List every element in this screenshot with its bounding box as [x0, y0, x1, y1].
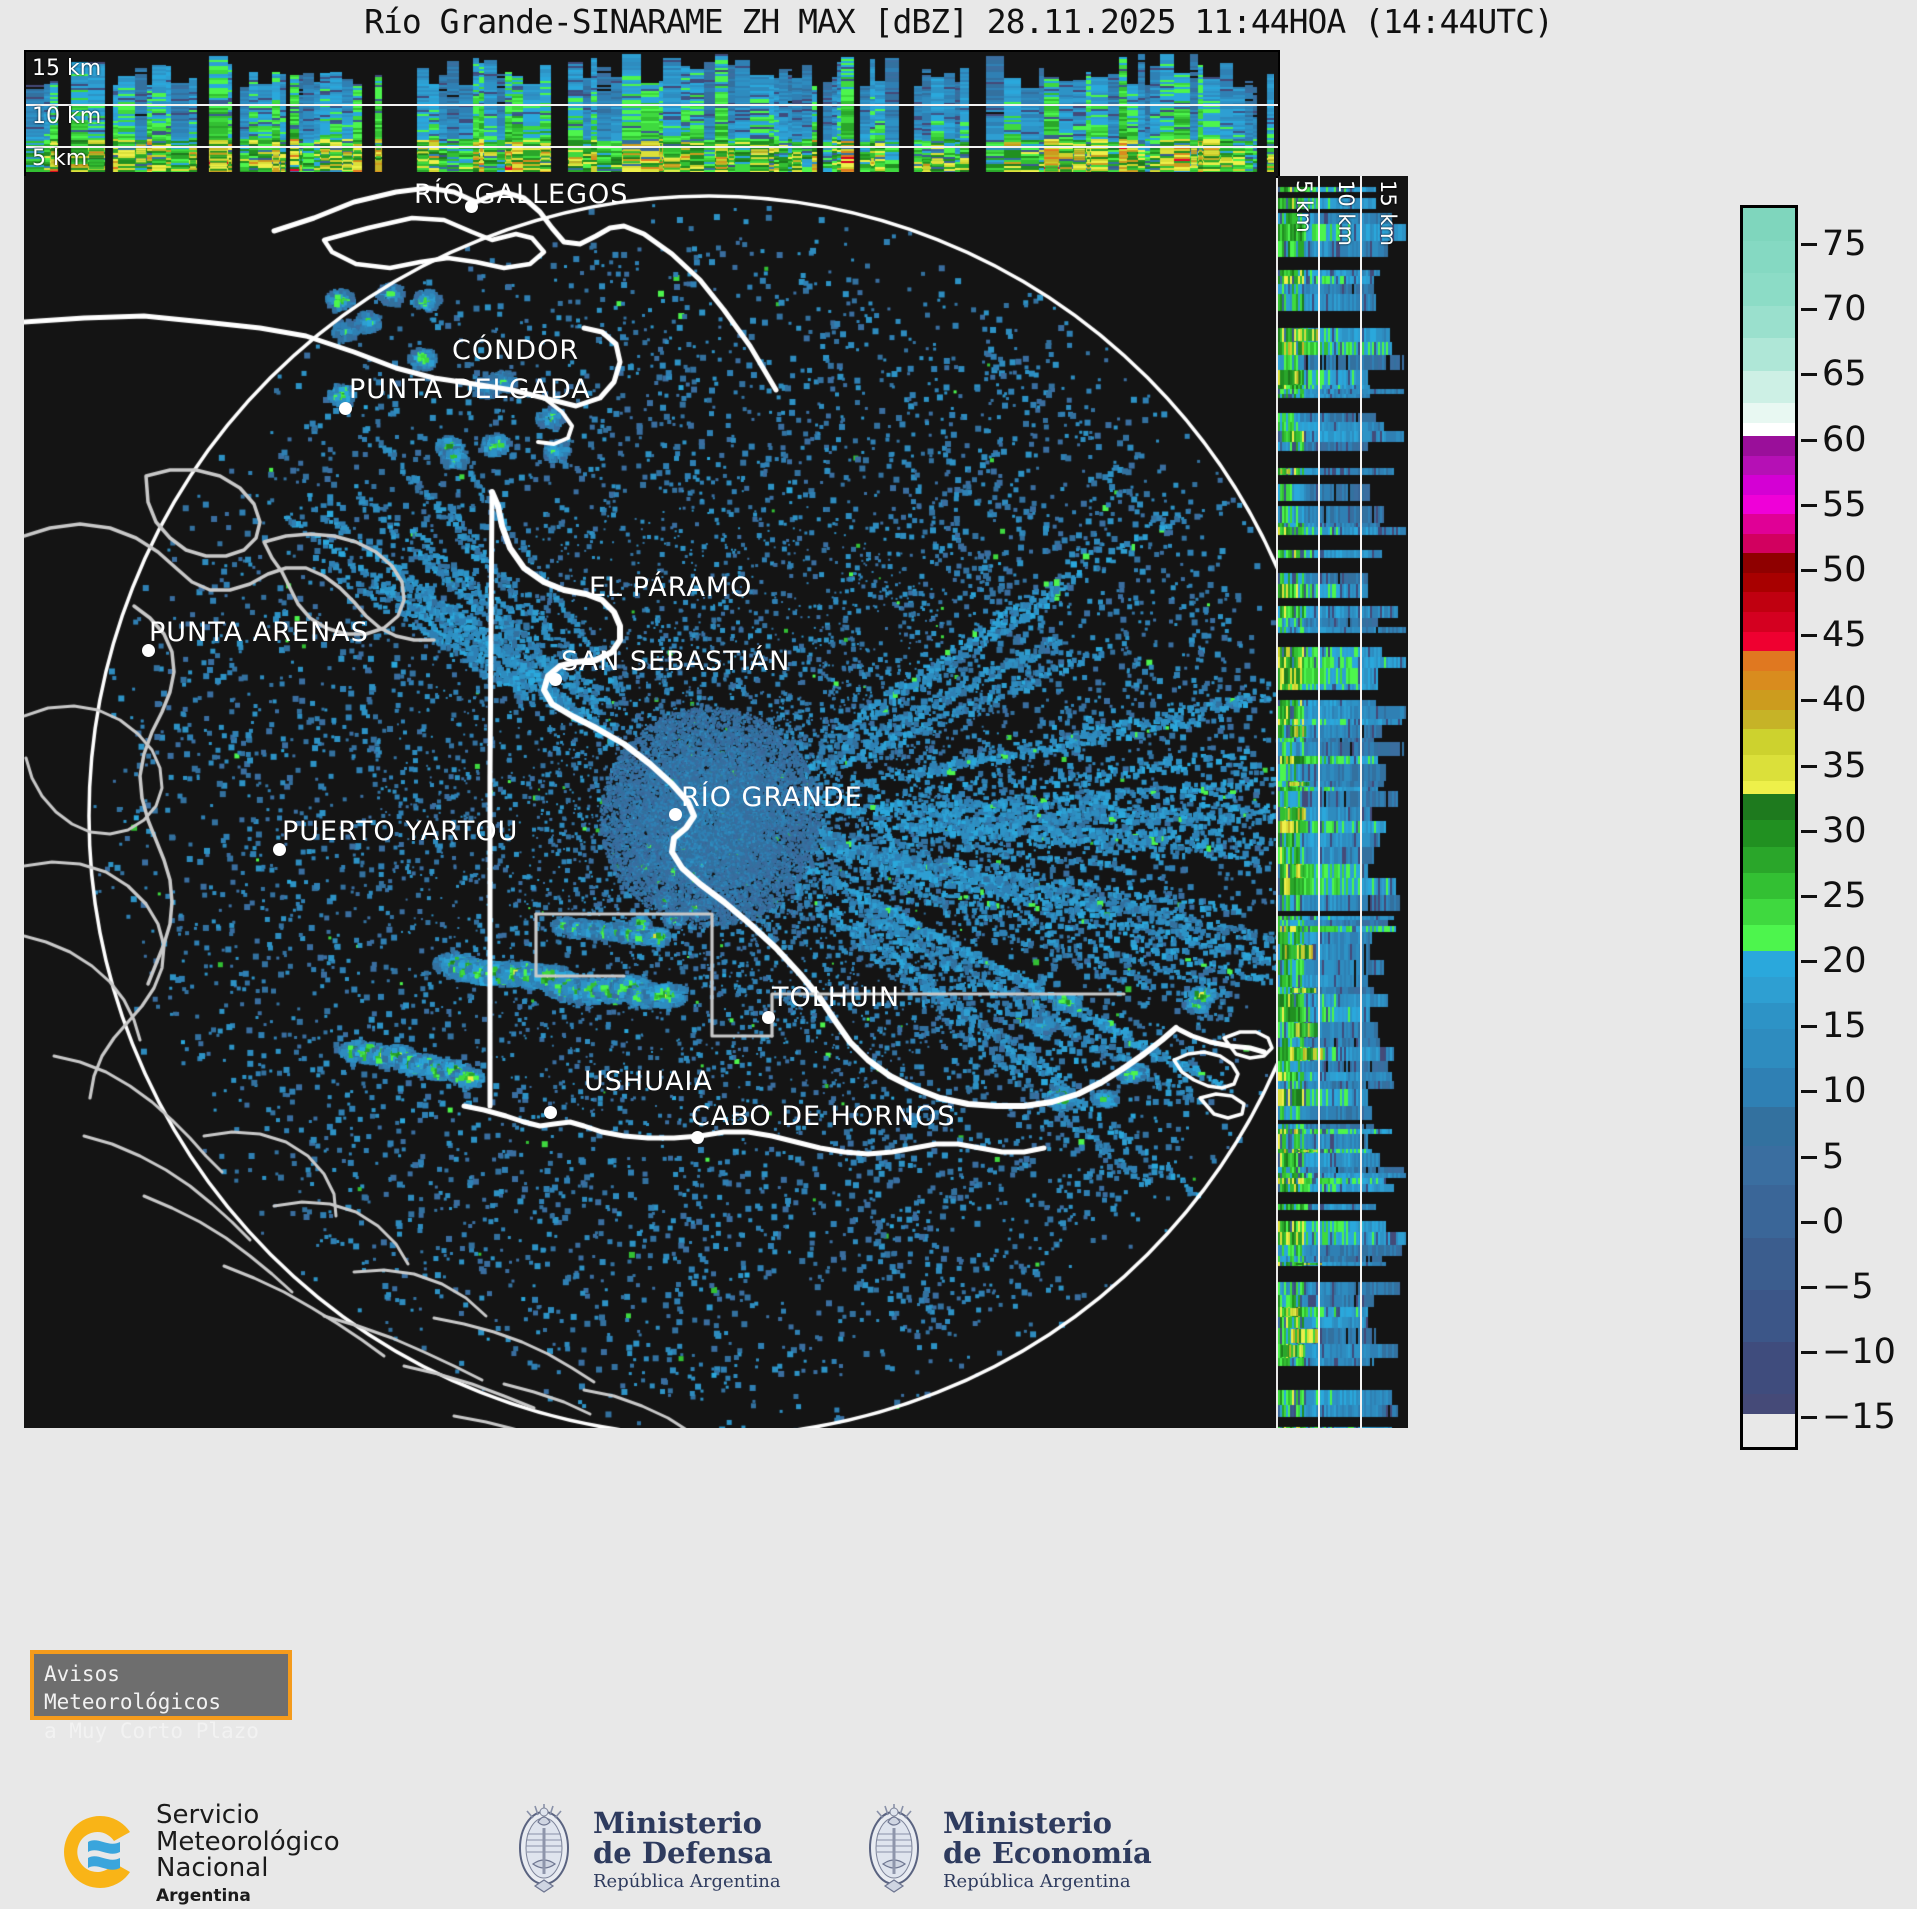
geography-overlay-canvas	[24, 176, 1276, 1428]
cross-section-top-canvas	[26, 52, 1274, 172]
colorbar-tick	[1801, 1286, 1817, 1289]
colorbar-tick	[1801, 765, 1817, 768]
cross-section-top-panel: 15 km 10 km 5 km	[24, 50, 1280, 178]
colorbar-tick	[1801, 699, 1817, 702]
altitude-label-15km: 15 km	[32, 56, 101, 81]
colorbar-tick	[1801, 373, 1817, 376]
footer-logos: Servicio Meteorológico Nacional Argentin…	[0, 1790, 1917, 1909]
city-marker-dot	[142, 644, 155, 657]
range-label-10km: 10 km	[1334, 180, 1358, 246]
range-label-15km: 15 km	[1376, 180, 1400, 246]
colorbar-tick	[1801, 1025, 1817, 1028]
colorbar-tick-label: 50	[1822, 550, 1867, 590]
colorbar-tick-label: 20	[1822, 941, 1867, 981]
colorbar-tick-label: 10	[1822, 1071, 1867, 1111]
colorbar-tick-label: −10	[1822, 1332, 1896, 1372]
colorbar-tick-label: 60	[1822, 420, 1867, 460]
city-marker-dot	[691, 1131, 704, 1144]
city-marker-dot	[669, 808, 682, 821]
colorbar-tick-label: 45	[1822, 615, 1867, 655]
colorbar-tick	[1801, 243, 1817, 246]
ministerio-defensa-logo[interactable]: Ministerio de Defensa República Argentin…	[505, 1802, 781, 1898]
defensa-line-1: Ministerio	[593, 1808, 781, 1838]
warning-badge[interactable]: Avisos Meteorológicos a Muy Corto Plazo	[30, 1650, 292, 1720]
city-marker-dot	[762, 1011, 775, 1024]
ministerio-economia-text: Ministerio de Economía República Argenti…	[943, 1808, 1152, 1893]
colorbar-tick-label: −5	[1822, 1267, 1874, 1307]
colorbar-tick	[1801, 569, 1817, 572]
colorbar-tick-label: 70	[1822, 289, 1867, 329]
smn-line-1: Servicio	[156, 1802, 340, 1829]
range-label-5km: 5 km	[1292, 180, 1316, 233]
city-marker-dot	[339, 402, 352, 415]
cross-section-right-panel: 5 km 10 km 15 km	[1278, 176, 1408, 1428]
altitude-gridline-10km	[26, 146, 1278, 148]
colorbar-tick-label: −15	[1822, 1397, 1896, 1437]
colorbar-tick	[1801, 634, 1817, 637]
economia-line-1: Ministerio	[943, 1808, 1152, 1838]
defensa-line-3: República Argentina	[593, 1871, 781, 1892]
range-gridline-5km	[1318, 176, 1320, 1428]
colorbar-tick-label: 30	[1822, 811, 1867, 851]
economia-line-3: República Argentina	[943, 1871, 1152, 1892]
colorbar-tick	[1801, 308, 1817, 311]
smn-line-2: Meteorológico	[156, 1829, 340, 1856]
colorbar-tick-label: 35	[1822, 746, 1867, 786]
smn-logo[interactable]: Servicio Meteorológico Nacional Argentin…	[52, 1802, 340, 1906]
colorbar-tick	[1801, 895, 1817, 898]
argentina-coat-of-arms-icon	[505, 1802, 583, 1898]
cross-section-right-canvas	[1278, 176, 1408, 1428]
colorbar-tick-label: 0	[1822, 1202, 1844, 1242]
colorbar-tick	[1801, 1156, 1817, 1159]
colorbar-tick-label: 5	[1822, 1137, 1844, 1177]
range-gridline-10km	[1360, 176, 1362, 1428]
colorbar: 757065605550454035302520151050−5−10−15	[1740, 205, 1800, 1450]
argentina-coat-of-arms-icon	[855, 1802, 933, 1898]
city-marker-dot	[549, 673, 562, 686]
colorbar-tick-label: 40	[1822, 680, 1867, 720]
colorbar-tick-label: 65	[1822, 354, 1867, 394]
colorbar-tick	[1801, 504, 1817, 507]
colorbar-tick	[1801, 1351, 1817, 1354]
colorbar-tick-label: 75	[1822, 224, 1867, 264]
ministerio-economia-logo[interactable]: Ministerio de Economía República Argenti…	[855, 1802, 1152, 1898]
altitude-label-5km: 5 km	[32, 146, 87, 171]
page-title: Río Grande-SINARAME ZH MAX [dBZ] 28.11.2…	[0, 2, 1917, 41]
smn-logo-text: Servicio Meteorológico Nacional Argentin…	[156, 1802, 340, 1906]
colorbar-tick	[1801, 960, 1817, 963]
ministerio-defensa-text: Ministerio de Defensa República Argentin…	[593, 1808, 781, 1893]
colorbar-tick	[1801, 1221, 1817, 1224]
colorbar-tick	[1801, 1416, 1817, 1419]
altitude-gridline-15km	[26, 104, 1278, 106]
colorbar-gradient	[1740, 205, 1798, 1450]
smn-line-4: Argentina	[156, 1886, 340, 1906]
altitude-label-10km: 10 km	[32, 104, 101, 129]
defensa-line-2: de Defensa	[593, 1838, 781, 1868]
colorbar-tick-label: 25	[1822, 876, 1867, 916]
colorbar-tick	[1801, 830, 1817, 833]
city-marker-dot	[544, 1106, 557, 1119]
colorbar-tick	[1801, 439, 1817, 442]
city-marker-dot	[465, 200, 478, 213]
smn-emblem-icon	[52, 1808, 148, 1900]
colorbar-tick-label: 15	[1822, 1006, 1867, 1046]
colorbar-tick	[1801, 1090, 1817, 1093]
warning-line-2: a Muy Corto Plazo	[44, 1717, 278, 1745]
colorbar-tick-label: 55	[1822, 485, 1867, 525]
radar-map-panel[interactable]: RÍO GALLEGOSCÓNDORPUNTA DELGADAEL PÁRAMO…	[24, 176, 1276, 1428]
economia-line-2: de Economía	[943, 1838, 1152, 1868]
smn-line-3: Nacional	[156, 1855, 340, 1882]
warning-line-1: Avisos Meteorológicos	[44, 1660, 278, 1717]
city-marker-dot	[273, 843, 286, 856]
